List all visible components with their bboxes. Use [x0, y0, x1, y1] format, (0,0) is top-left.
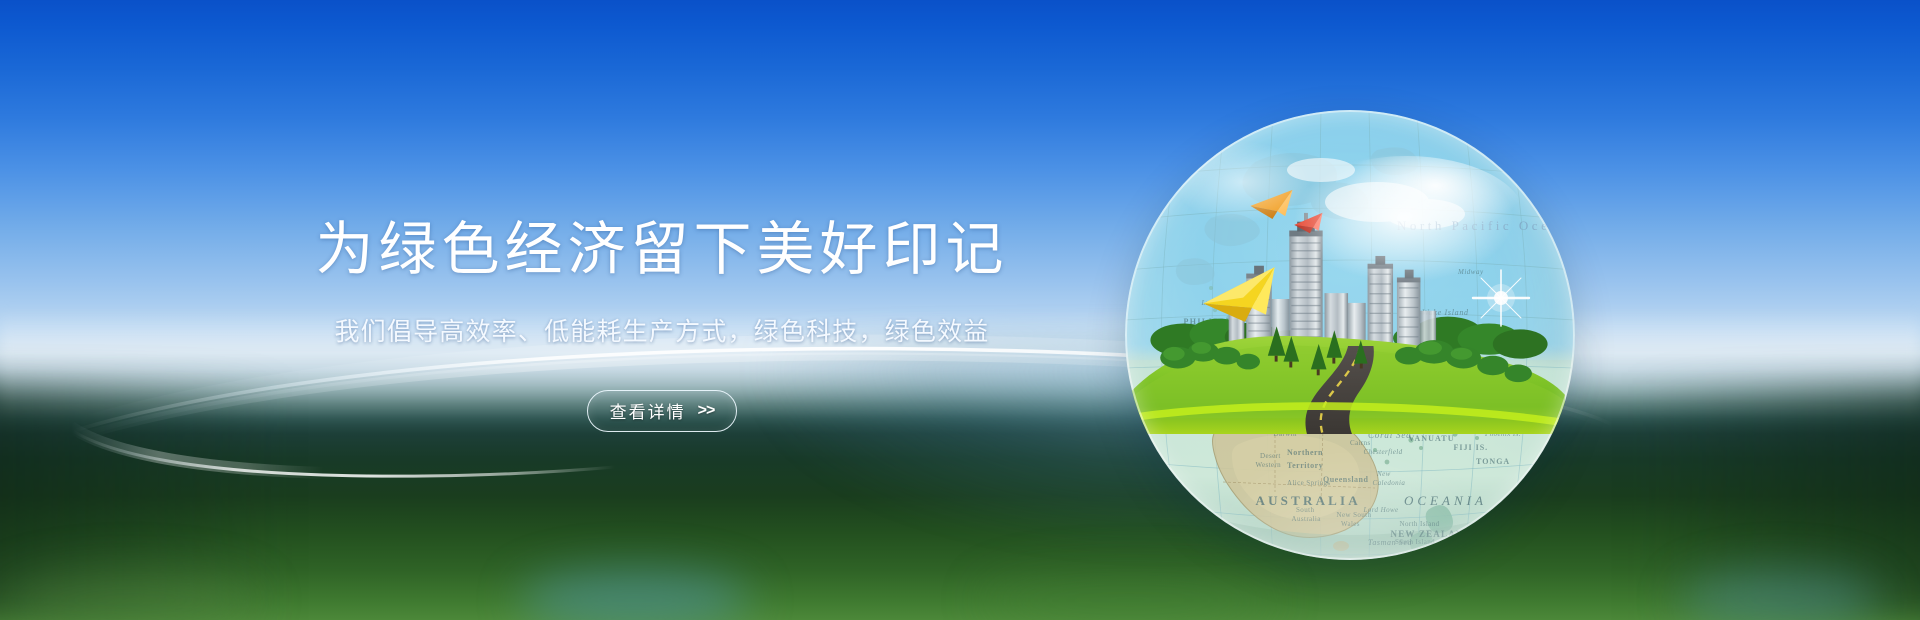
banner-headline: 为绿色经济留下美好印记	[315, 218, 1008, 282]
green-economy-hero-banner: North Pacific Ocean INDONESIAPAPUANEW GU…	[0, 0, 1920, 620]
double-chevron-right-icon: >>	[698, 402, 715, 420]
view-details-label: 查看详情	[610, 398, 686, 423]
banner-copy-block: 为绿色经济留下美好印记 我们倡导高效率、低能耗生产方式，绿色科技，绿色效益 查看…	[0, 0, 1324, 620]
view-details-button[interactable]: 查看详情 >>	[587, 390, 738, 432]
banner-subheadline: 我们倡导高效率、低能耗生产方式，绿色科技，绿色效益	[334, 312, 989, 348]
